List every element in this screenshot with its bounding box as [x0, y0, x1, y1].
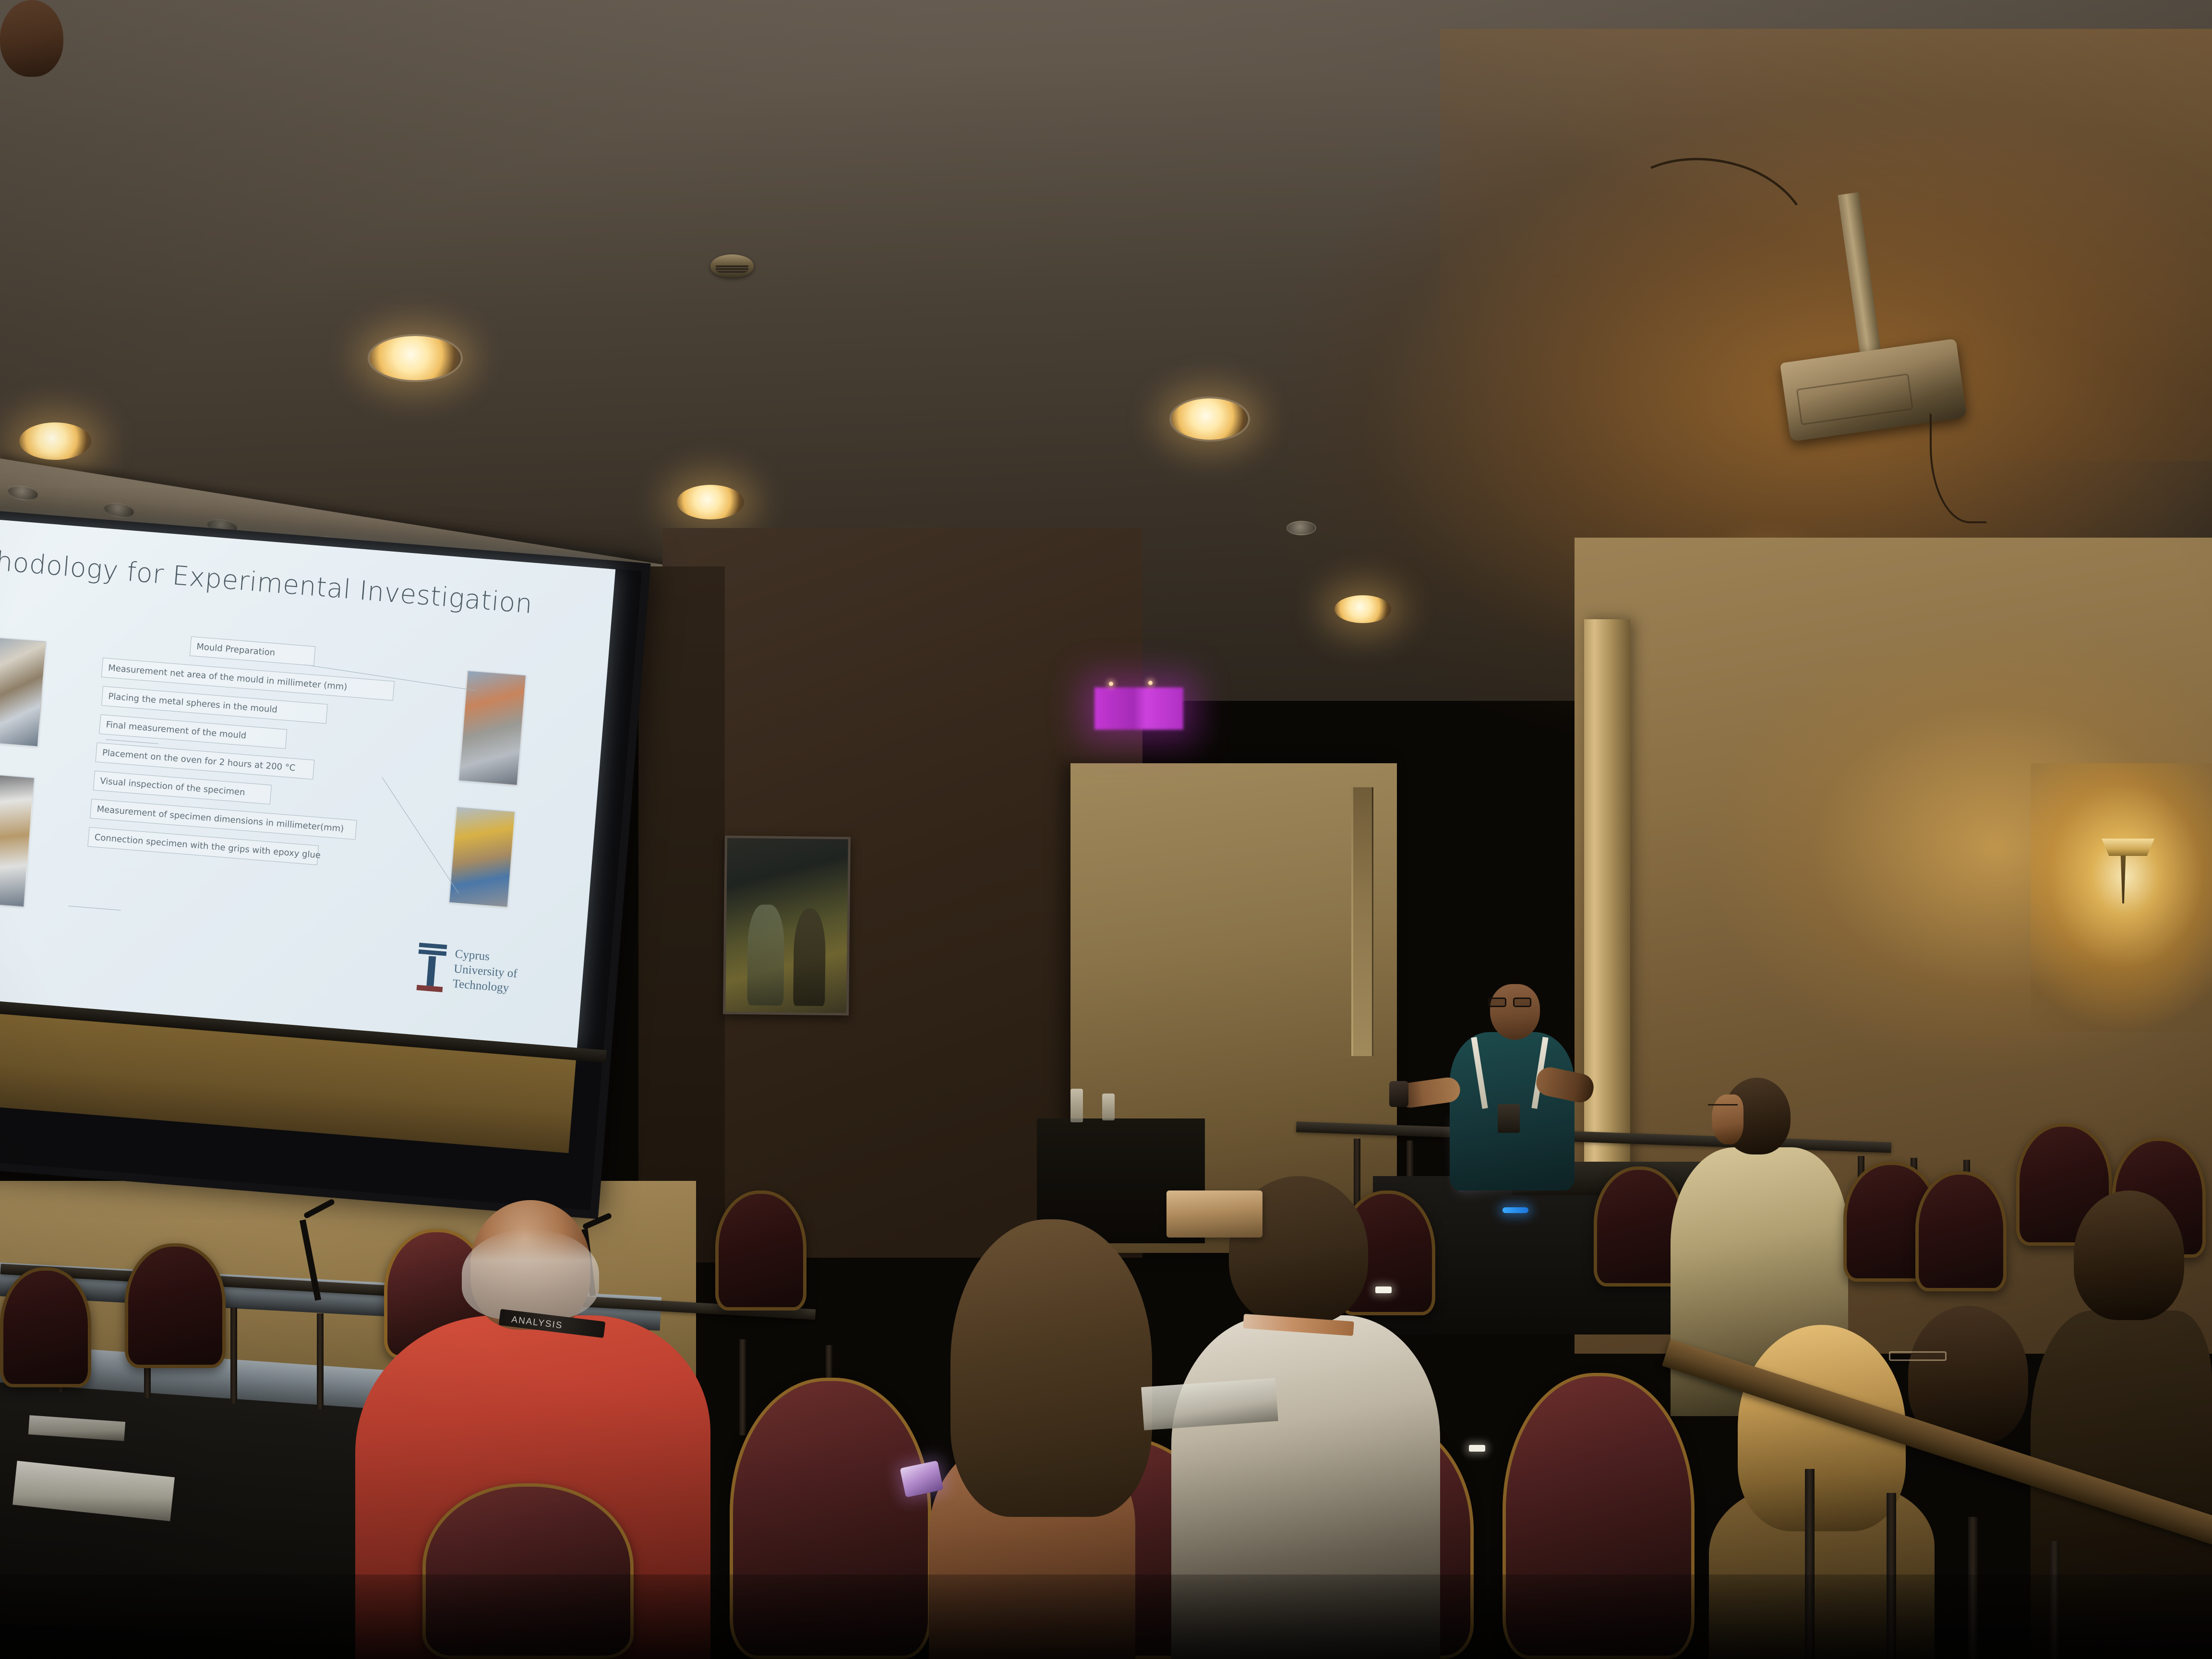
illuminated-magenta-sign — [1094, 687, 1183, 730]
balustrade-post — [317, 1313, 324, 1409]
equipment-led-indicator — [1469, 1445, 1485, 1452]
slide-flowchart: Mould Preparation Measurement net area o… — [111, 631, 435, 882]
slide-photo-lab-equipment — [449, 807, 515, 907]
university-logo-text: Cyprus University of Technology — [452, 947, 519, 996]
university-logo-mark-icon — [415, 943, 449, 999]
banquet-chair[interactable] — [1915, 1171, 2007, 1291]
presenter-glasses-icon — [1488, 998, 1540, 1007]
wall-recess-slot — [1351, 787, 1373, 1056]
sign-led-icon — [1109, 682, 1113, 686]
attendee-head — [2074, 1190, 2184, 1320]
presentation-clicker[interactable] — [1389, 1081, 1408, 1107]
presentation-slide: Methodology for Experimental Investigati… — [0, 518, 615, 1047]
smoke-detector-icon — [710, 254, 754, 277]
flow-step: Mould Preparation — [190, 637, 315, 666]
flow-step: Final measurement of the mould — [99, 714, 287, 749]
drinking-glass — [1102, 1094, 1115, 1120]
receiver-led-indicator — [1503, 1207, 1528, 1213]
presenter — [0, 0, 63, 77]
wall-artwork — [723, 836, 851, 1016]
water-bottle — [1070, 1089, 1083, 1122]
foreground-shadow — [0, 1575, 2212, 1659]
presenter-head — [0, 0, 63, 77]
projection-screen: Methodology for Experimental Investigati… — [0, 509, 650, 1219]
equipment-led-indicator — [1375, 1286, 1392, 1293]
conference-room-photo: Methodology for Experimental Investigati… — [0, 0, 2212, 1659]
presenter-face — [1490, 984, 1540, 1040]
background-chair[interactable] — [715, 1190, 806, 1310]
wall-sconce-shade — [2102, 839, 2154, 856]
balustrade-post — [230, 1308, 237, 1404]
ceiling-downlight — [19, 422, 91, 460]
slide-photo-specimen-closeup — [0, 773, 34, 907]
ceiling-downlight — [1334, 595, 1391, 623]
presenter-badge — [1498, 1104, 1520, 1133]
ceiling-downlight-rim — [1169, 397, 1250, 442]
equipment-box — [1166, 1190, 1262, 1238]
sign-led-icon — [1148, 681, 1153, 685]
cyprus-university-logo: Cyprus University of Technology — [414, 939, 549, 1016]
background-chair[interactable] — [0, 1267, 91, 1387]
slide-photo-mould-assembly — [0, 637, 46, 747]
attendee-glasses-icon — [1708, 1104, 1738, 1112]
attendee-glasses-icon — [1889, 1351, 1947, 1361]
dark-wall-left-edge — [638, 566, 725, 1262]
flow-step: Visual inspection of the specimen — [93, 770, 272, 805]
attendee-face — [1712, 1094, 1743, 1144]
ceiling-downlight — [677, 485, 744, 519]
unlit-ceiling-spot — [1286, 521, 1316, 535]
attendee-hair — [950, 1219, 1152, 1517]
background-chair[interactable] — [125, 1243, 226, 1368]
ceiling-downlight-rim — [368, 334, 463, 382]
slide-photo-lab-workbench — [459, 671, 526, 785]
attendee-hair — [462, 1229, 599, 1320]
slide-connector-arrow — [68, 906, 121, 911]
